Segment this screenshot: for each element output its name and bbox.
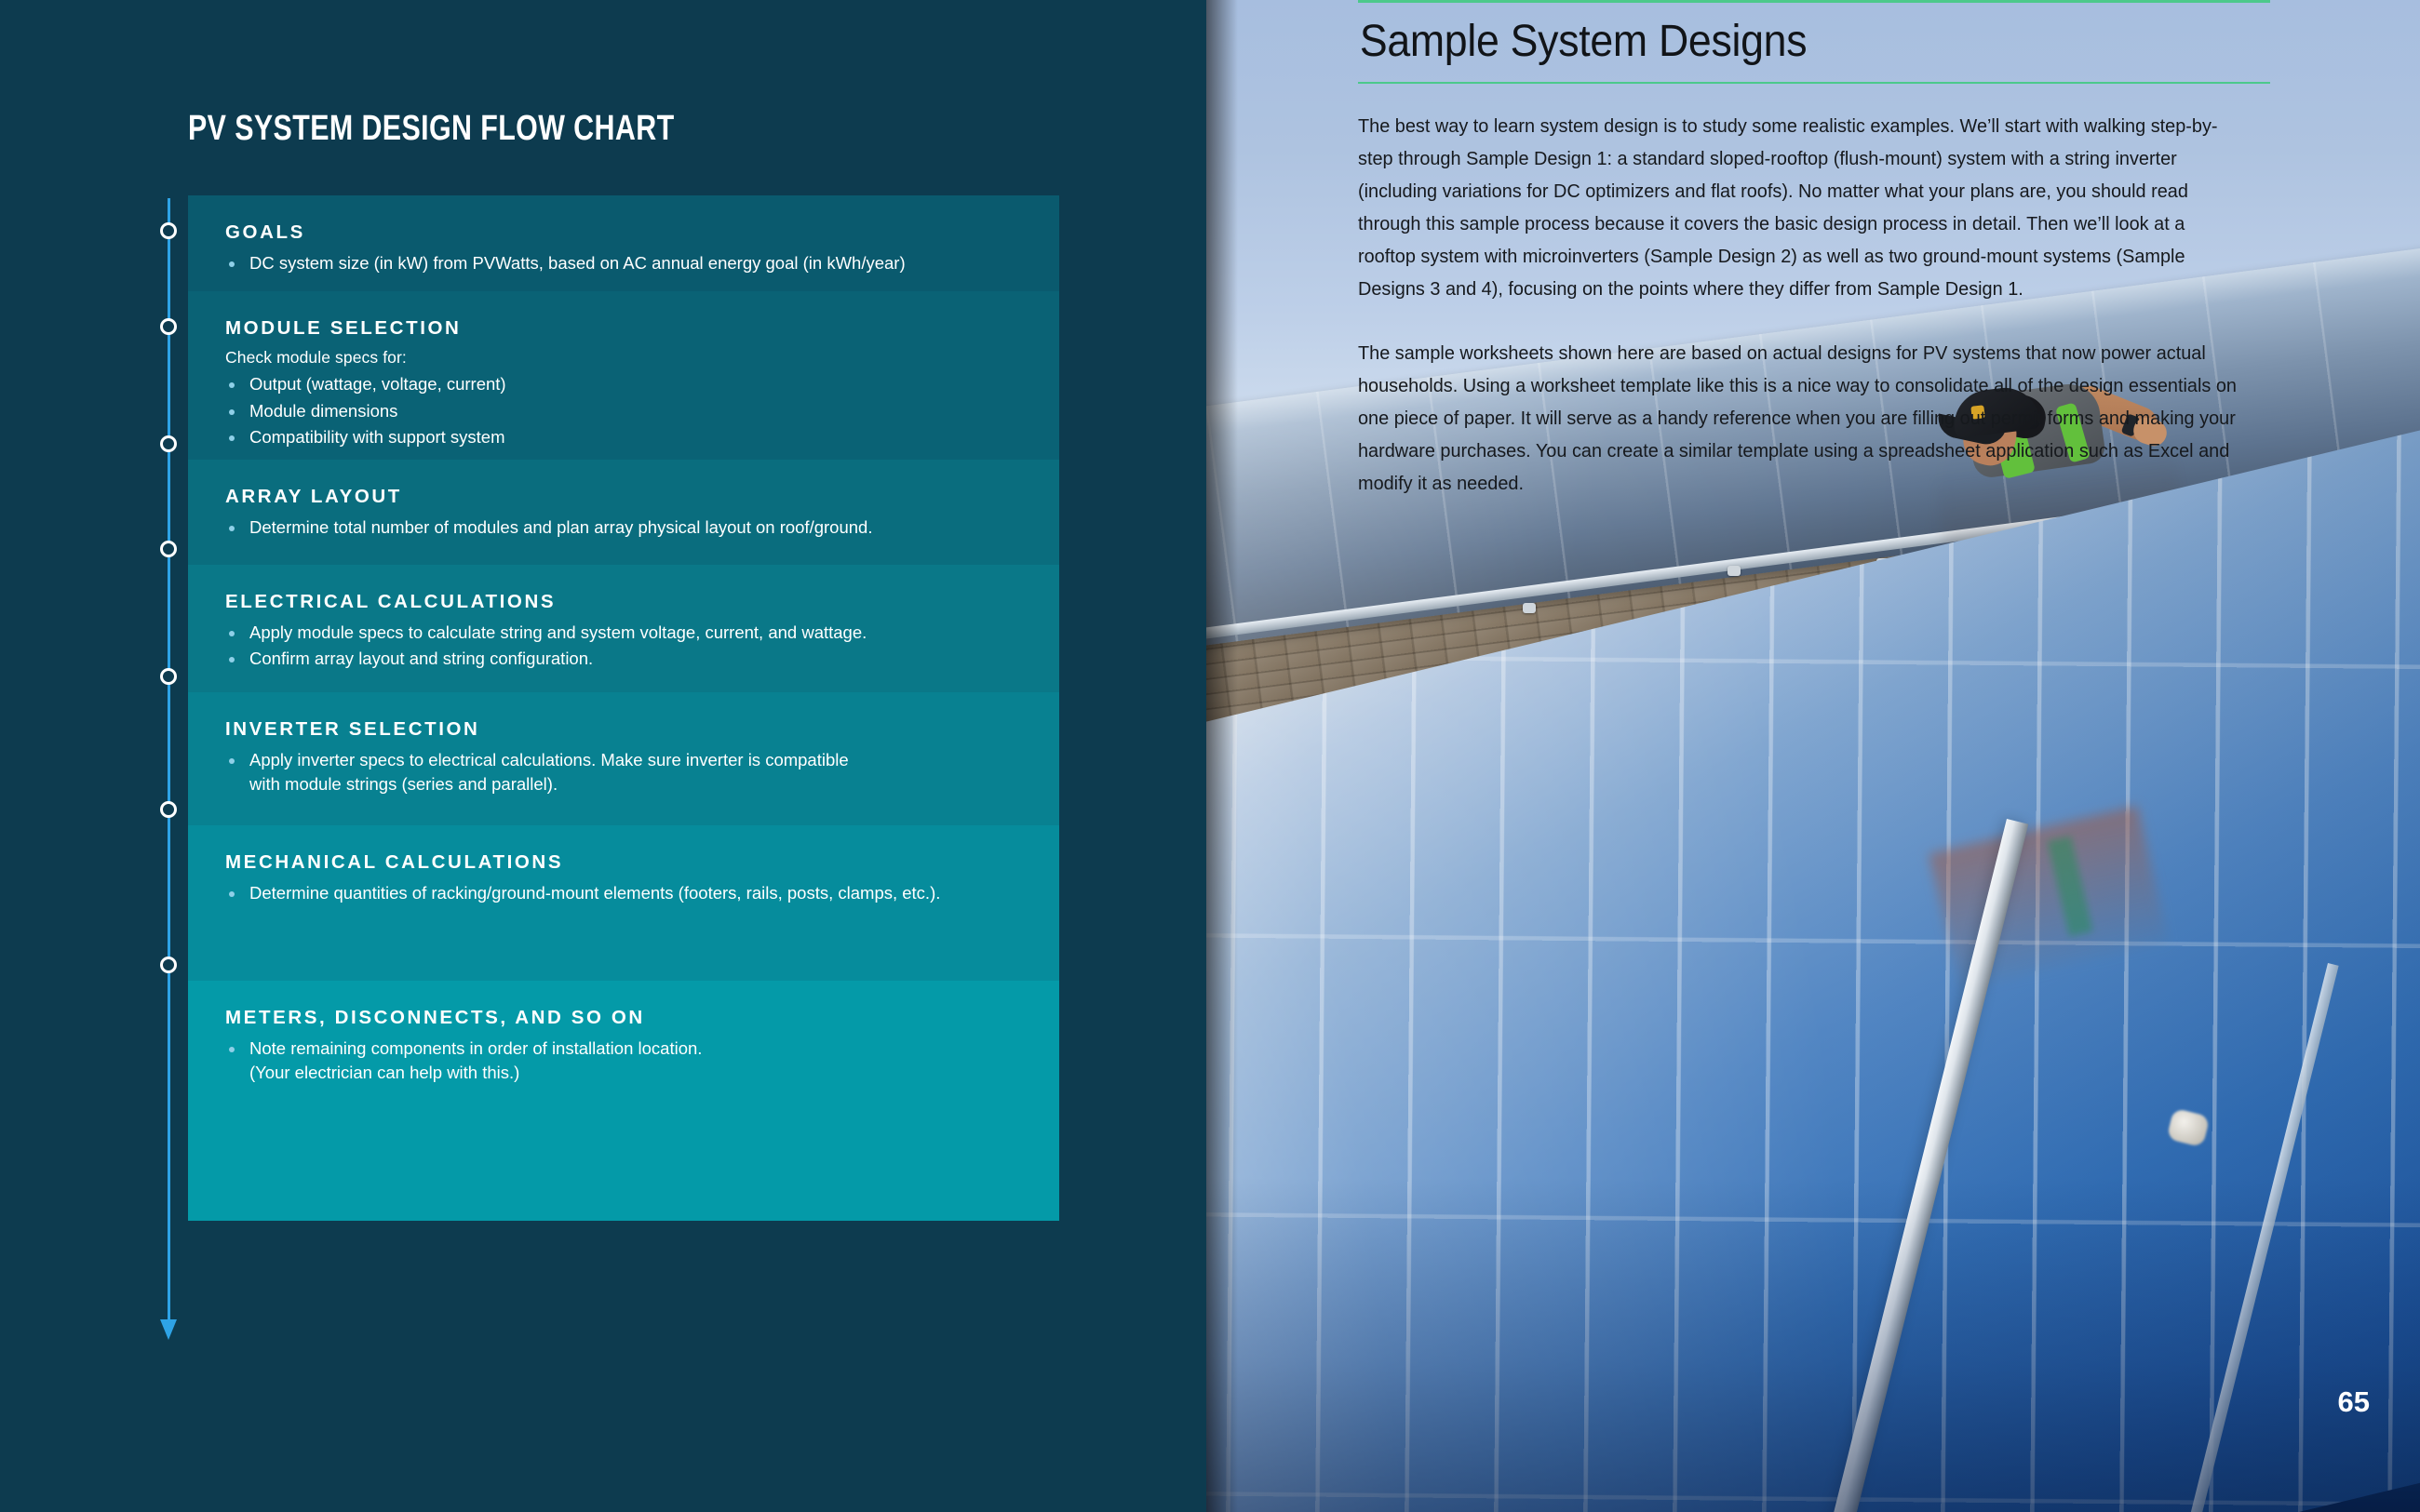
flow-step-bullet-list: Determine total number of modules and pl… [225,515,1022,540]
flow-step-heading: ELECTRICAL CALCULATIONS [225,591,1022,613]
flow-step-bullet-list: Apply inverter specs to electrical calcu… [225,747,1022,796]
flow-step-bullet: Compatibility with support system [225,424,1022,449]
flow-step-panel: ARRAY LAYOUTDetermine total number of mo… [188,460,1059,565]
flow-chart: GOALSDC system size (in kW) from PVWatts… [188,195,1059,1221]
timeline-step-dot [160,318,177,335]
panel-clamp-icon [1523,603,1536,613]
flow-step-bullet: Output (wattage, voltage, current) [225,371,1022,396]
intro-paragraph-2: The sample worksheets shown here are bas… [1358,337,2247,500]
timeline-step-dot [160,222,177,239]
flow-step-bullet-list: DC system size (in kW) from PVWatts, bas… [225,250,1022,275]
timeline-line [168,198,170,1329]
timeline-step-dot [160,541,177,557]
flow-step-bullet-list: Apply module specs to calculate string a… [225,620,1022,671]
flow-step-heading: MODULE SELECTION [225,317,1022,340]
flow-step-bullet: Determine quantities of racking/ground-m… [225,880,1022,905]
flow-step-panel: METERS, DISCONNECTS, AND SO ONNote remai… [188,981,1059,1221]
flow-step-bullet: Apply module specs to calculate string a… [225,620,1022,645]
flow-step-panel: ELECTRICAL CALCULATIONSApply module spec… [188,565,1059,692]
intro-paragraph-1: The best way to learn system design is t… [1358,110,2247,305]
timeline-step-dot [160,668,177,685]
heading-rule-bottom [1358,82,2270,85]
flow-step-heading: METERS, DISCONNECTS, AND SO ON [225,1007,1022,1029]
flow-step-heading: GOALS [225,221,1022,244]
left-page: PV SYSTEM DESIGN FLOW CHART GOALSDC syst… [0,0,1206,1512]
flow-step-bullet-list: Output (wattage, voltage, current)Module… [225,371,1022,449]
flow-step-bullet-list: Note remaining components in order of in… [225,1036,1022,1085]
page-title: PV SYSTEM DESIGN FLOW CHART [188,109,675,149]
timeline-step-dot [160,957,177,973]
flow-step-bullet: DC system size (in kW) from PVWatts, bas… [225,250,1022,275]
timeline-step-dot [160,801,177,818]
flow-step-subnote: Check module specs for: [225,346,1022,369]
page-number: 65 [2338,1385,2370,1419]
flow-step-bullet: Module dimensions [225,398,1022,423]
timeline-step-dot [160,435,177,452]
flow-step-panel: MODULE SELECTIONCheck module specs for:O… [188,291,1059,460]
flow-step-bullet: Confirm array layout and string configur… [225,646,1022,671]
photo-bottom-vignette [1206,1177,2420,1512]
flow-step-panel: MECHANICAL CALCULATIONSDetermine quantit… [188,825,1059,981]
flow-step-heading: INVERTER SELECTION [225,718,1022,741]
book-spread: PV SYSTEM DESIGN FLOW CHART GOALSDC syst… [0,0,2420,1512]
right-page-text-block: Sample System Designs The best way to le… [1358,0,2289,500]
panel-clamp-icon [1728,566,1741,576]
timeline-arrow-icon [160,1319,177,1340]
flow-step-heading: ARRAY LAYOUT [225,486,1022,508]
flow-step-bullet-continuation: with module strings (series and parallel… [225,771,1022,796]
flow-step-panel: INVERTER SELECTIONApply inverter specs t… [188,692,1059,825]
flow-step-bullet-continuation: (Your electrician can help with this.) [225,1060,1022,1085]
flow-step-bullet: Note remaining components in order of in… [225,1036,1022,1061]
section-heading: Sample System Designs [1358,3,2224,82]
flow-timeline [157,198,180,1355]
flow-step-bullet: Apply inverter specs to electrical calcu… [225,747,1022,772]
flow-step-panel: GOALSDC system size (in kW) from PVWatts… [188,195,1059,291]
flow-step-bullet-list: Determine quantities of racking/ground-m… [225,880,1022,905]
flow-step-bullet: Determine total number of modules and pl… [225,515,1022,540]
flow-step-heading: MECHANICAL CALCULATIONS [225,851,1022,874]
